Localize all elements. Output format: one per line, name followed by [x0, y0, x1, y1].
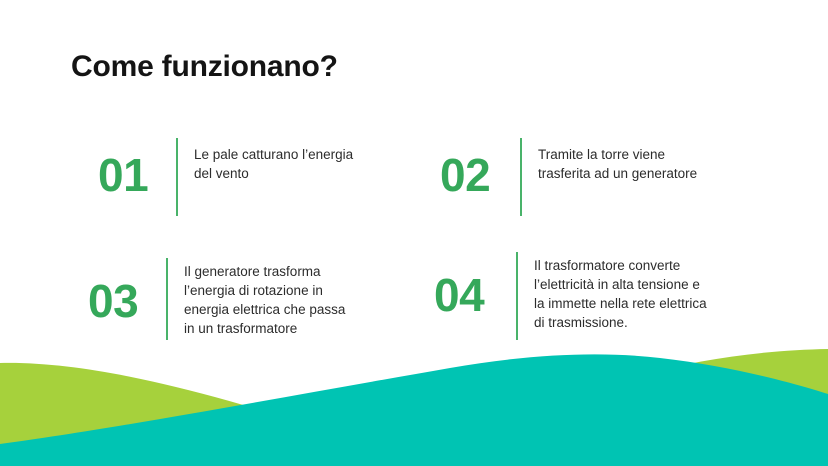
- step-item-04: 04 Il trasformatore converte l’elettrici…: [434, 252, 774, 340]
- step-text-01: Le pale catturano l’energia del vento: [178, 138, 398, 183]
- step-text-02: Tramite la torre viene trasferita ad un …: [522, 138, 760, 183]
- step-text-04: Il trasformatore converte l’elettricità …: [518, 252, 774, 332]
- step-number-02: 02: [440, 138, 520, 198]
- step-number-01: 01: [98, 138, 176, 198]
- step-item-02: 02 Tramite la torre viene trasferita ad …: [440, 138, 760, 216]
- step-text-03: Il generatore trasforma l’energia di rot…: [168, 258, 398, 338]
- step-number-03: 03: [88, 258, 166, 324]
- page-title: Come funzionano?: [71, 48, 338, 86]
- lime-hill-icon: [0, 363, 470, 466]
- lime-hill-right-icon: [560, 349, 828, 466]
- step-item-03: 03 Il generatore trasforma l’energia di …: [88, 258, 398, 340]
- step-number-04: 04: [434, 252, 516, 318]
- step-item-01: 01 Le pale catturano l’energia del vento: [98, 138, 398, 216]
- slide-canvas: Come funzionano? 01 Le pale catturano l’…: [0, 0, 828, 466]
- teal-hill-icon: [0, 354, 828, 466]
- decorative-waves: [0, 336, 828, 466]
